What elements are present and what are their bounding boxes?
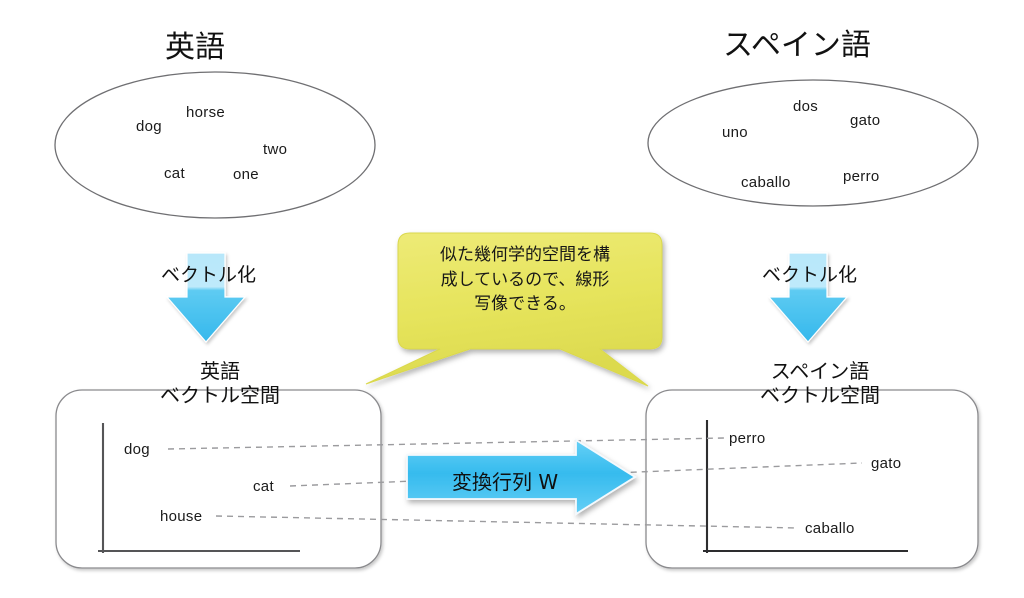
transformation-matrix-label: 変換行列 W [452, 466, 558, 495]
diagram-text-layer: 英語 スペイン語 horse dog two cat one dos gato … [0, 0, 1024, 598]
word-gato: gato [850, 112, 880, 129]
spanish-space-title-line1: スペイン語 [740, 359, 900, 383]
vectorize-label-left: ベクトル化 [161, 260, 256, 287]
word-two: two [263, 141, 287, 158]
word-horse: horse [186, 104, 225, 121]
vector-word-house: house [160, 508, 202, 525]
english-set-title: 英語 [165, 32, 225, 64]
vector-word-gato: gato [871, 455, 901, 472]
vector-word-cat: cat [253, 478, 274, 495]
callout-line-1: 似た幾何学的空間を構 [420, 243, 630, 268]
word-caballo: caballo [741, 174, 791, 191]
spanish-space-title-line2: ベクトル空間 [740, 383, 900, 407]
callout-text: 似た幾何学的空間を構 成しているので、線形 写像できる。 [420, 243, 630, 317]
english-space-title: 英語 ベクトル空間 [145, 359, 295, 407]
vector-word-dog: dog [124, 441, 150, 458]
word-dos: dos [793, 98, 818, 115]
word-cat: cat [164, 165, 185, 182]
spanish-space-title: スペイン語 ベクトル空間 [740, 359, 900, 407]
english-space-title-line1: 英語 [145, 359, 295, 383]
vector-word-caballo: caballo [805, 520, 855, 537]
word-one: one [233, 166, 259, 183]
word-perro: perro [843, 168, 880, 185]
english-space-title-line2: ベクトル空間 [145, 383, 295, 407]
diagram-canvas: 英語 スペイン語 horse dog two cat one dos gato … [0, 0, 1024, 598]
callout-line-2: 成しているので、線形 [420, 268, 630, 293]
spanish-set-title: スペイン語 [723, 30, 871, 62]
vectorize-label-right: ベクトル化 [762, 260, 857, 287]
callout-line-3: 写像できる。 [420, 292, 630, 317]
word-uno: uno [722, 124, 748, 141]
word-dog: dog [136, 118, 162, 135]
vector-word-perro: perro [729, 430, 766, 447]
